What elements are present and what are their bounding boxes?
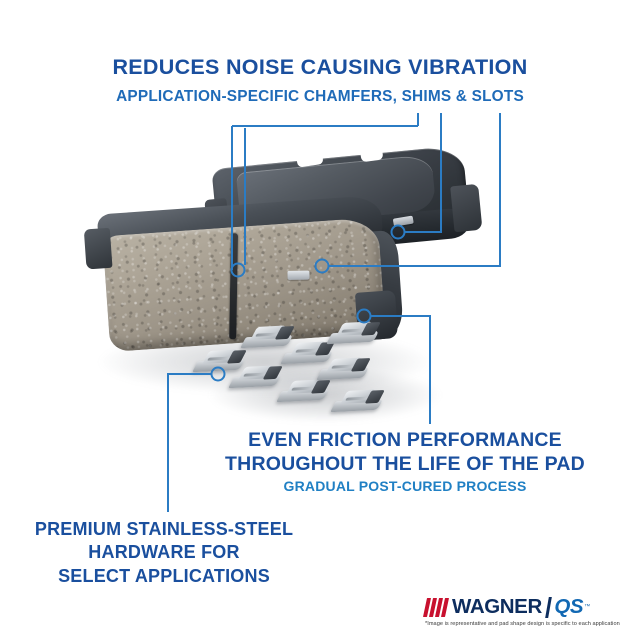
- disclaimer-text: *Image is representative and pad shape d…: [425, 621, 637, 627]
- middle-callout-title: EVEN FRICTION PERFORMANCE THROUGHOUT THE…: [180, 428, 630, 477]
- logo-subbrand: QS: [554, 595, 583, 619]
- logo-stripes-icon: [425, 598, 449, 617]
- logo-wordmark: WAGNER: [452, 595, 542, 619]
- bottom-left-title-line3: SELECT APPLICATIONS: [4, 565, 324, 588]
- friction-marker[interactable]: [358, 310, 371, 323]
- logo-lockup: WAGNER QS ™: [425, 596, 590, 618]
- bottom-left-title-line2: HARDWARE FOR: [4, 541, 324, 564]
- bottom-left-title-line1: PREMIUM STAINLESS-STEEL: [4, 518, 324, 541]
- hardware-marker[interactable]: [212, 368, 225, 381]
- logo-trademark: ™: [584, 604, 590, 610]
- shim-marker[interactable]: [392, 226, 405, 239]
- brand-logo: WAGNER QS ™ *Image is representative and…: [425, 596, 637, 636]
- slot-marker[interactable]: [316, 260, 329, 273]
- infographic-canvas: REDUCES NOISE CAUSING VIBRATION APPLICAT…: [0, 0, 640, 640]
- logo-divider: [545, 597, 551, 618]
- middle-callout-title-line1: EVEN FRICTION PERFORMANCE: [180, 428, 630, 452]
- bottom-left-callout-title: PREMIUM STAINLESS-STEEL HARDWARE FOR SEL…: [4, 518, 324, 588]
- middle-callout-title-line2: THROUGHOUT THE LIFE OF THE PAD: [180, 452, 630, 476]
- chamfer-marker[interactable]: [232, 264, 245, 277]
- middle-callout-subtitle: GRADUAL POST-CURED PROCESS: [180, 479, 630, 495]
